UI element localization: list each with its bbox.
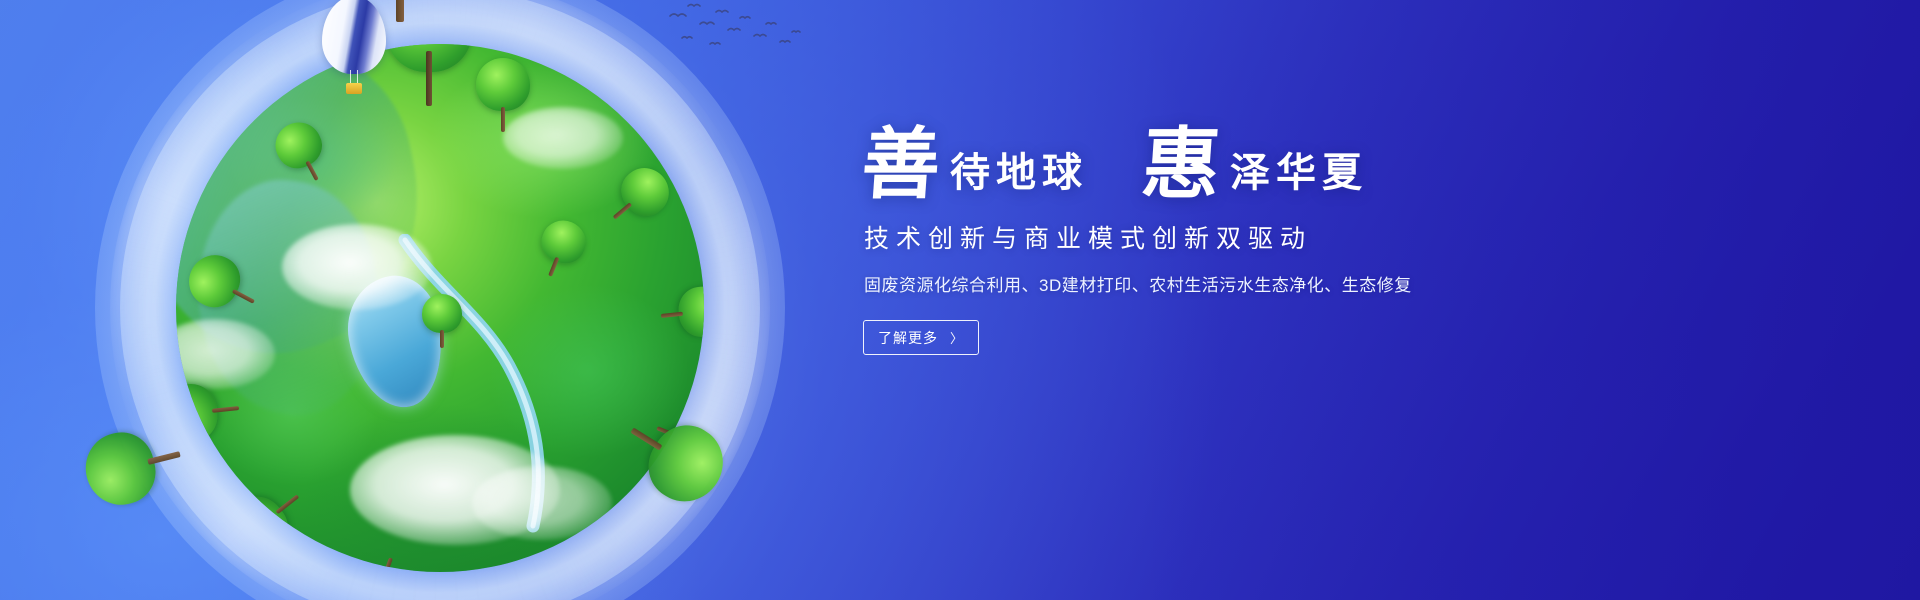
learn-more-label: 了解更多 — [878, 328, 938, 348]
banner-subtitle: 技术创新与商业模式创新双驱动 — [864, 219, 1662, 255]
chevron-right-icon: 〉 — [950, 328, 964, 347]
learn-more-button[interactable]: 了解更多 〉 — [863, 320, 979, 355]
cloud-icon — [472, 466, 612, 540]
bird-flock-icon — [666, 0, 806, 58]
tree-icon — [476, 58, 530, 132]
banner-description: 固废资源化综合利用、3D建材打印、农村生活污水生态净化、生态修复 — [864, 271, 1662, 296]
tree-icon — [386, 44, 472, 106]
banner-content: 善 待地球 惠 泽华夏 技术创新与商业模式创新双驱动 固废资源化综合利用、3D建… — [862, 128, 1662, 355]
tree-icon — [422, 294, 462, 348]
hot-air-balloon-icon — [322, 0, 386, 100]
tree-icon — [176, 379, 242, 445]
tree-icon — [658, 284, 704, 341]
tiny-planet-artwork — [90, 0, 790, 600]
headline-part1-small: 待地球 — [940, 153, 1088, 201]
headline-part1-big: 善 — [859, 128, 942, 201]
hero-banner: 善 待地球 惠 泽华夏 技术创新与商业模式创新双驱动 固废资源化综合利用、3D建… — [0, 0, 1920, 600]
headline: 善 待地球 惠 泽华夏 — [862, 128, 1662, 201]
cloud-icon — [282, 224, 432, 310]
headline-part2-big: 惠 — [1139, 128, 1222, 201]
headline-part2-small: 泽华夏 — [1220, 153, 1368, 201]
globe-icon — [176, 44, 704, 572]
